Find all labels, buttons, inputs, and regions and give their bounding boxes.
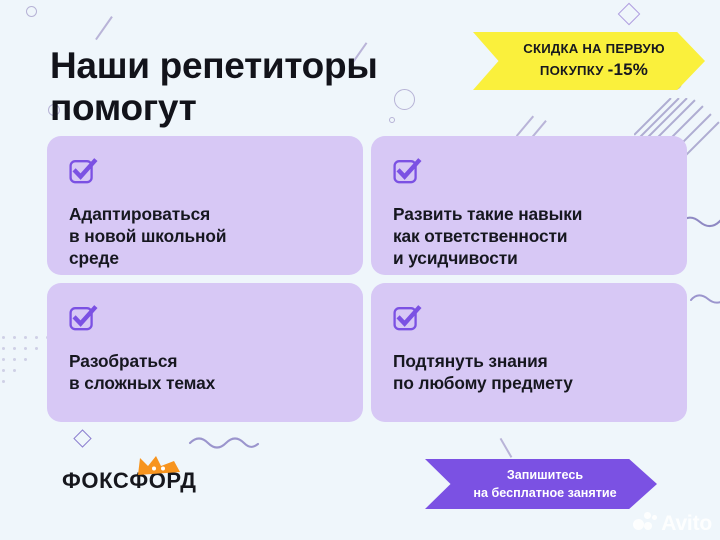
avito-watermark-word: Avito [661,513,712,534]
avito-dots-icon [633,512,659,534]
avito-watermark: Avito [633,512,712,534]
cta-line-2: на бесплатное занятие [473,486,616,500]
checkbox-checked-icon [69,156,341,191]
checkbox-checked-icon [393,303,665,338]
discount-badge: СКИДКА НА ПЕРВУЮ ПОКУПКУ -15% [473,32,705,90]
cta-banner-text: Запишитесь на бесплатное занятие [465,466,616,503]
cta-line-1: Запишитесь [507,468,583,482]
benefit-card-4-text: Подтянуть знания по любому предмету [393,351,665,395]
discount-line-2-prefix: ПОКУПКУ [540,63,608,78]
decor-wave-right-lower [690,292,720,305]
benefit-card-1: Адаптироваться в новой школьной среде [47,136,363,275]
benefit-card-2: Развить такие навыки как ответственности… [371,136,687,275]
benefit-card-3-text: Разобраться в сложных темах [69,351,341,395]
cta-signup-banner[interactable]: Запишитесь на бесплатное занятие [425,459,657,509]
discount-value: -15% [608,60,649,79]
checkbox-checked-icon [393,156,665,191]
discount-line-1: СКИДКА НА ПЕРВУЮ [523,41,665,56]
benefit-card-grid: Адаптироваться в новой школьной среде Ра… [47,136,687,422]
poster-canvas: Наши репетиторы помогут СКИДКА НА ПЕРВУЮ… [0,0,720,540]
checkbox-checked-icon [69,303,341,338]
brand-logo: ФОКСФОРД [62,470,197,492]
decor-line-cta-top [500,438,512,458]
decor-wave-bottom-left [188,436,260,450]
benefit-card-3: Разобраться в сложных темах [47,283,363,422]
decor-line-title-top [95,16,112,40]
benefit-card-2-text: Развить такие навыки как ответственности… [393,204,665,269]
benefit-card-4: Подтянуть знания по любому предмету [371,283,687,422]
decor-circle-topleft-small [26,6,37,17]
decor-line-cards-top [516,116,534,137]
decor-diamond-topright [618,3,641,26]
discount-badge-text: СКИДКА НА ПЕРВУЮ ПОКУПКУ -15% [513,40,665,82]
decor-diamond-bottomleft [73,429,91,447]
page-title: Наши репетиторы помогут [50,45,480,129]
benefit-card-1-text: Адаптироваться в новой школьной среде [69,204,341,269]
fox-head-icon [134,455,182,482]
